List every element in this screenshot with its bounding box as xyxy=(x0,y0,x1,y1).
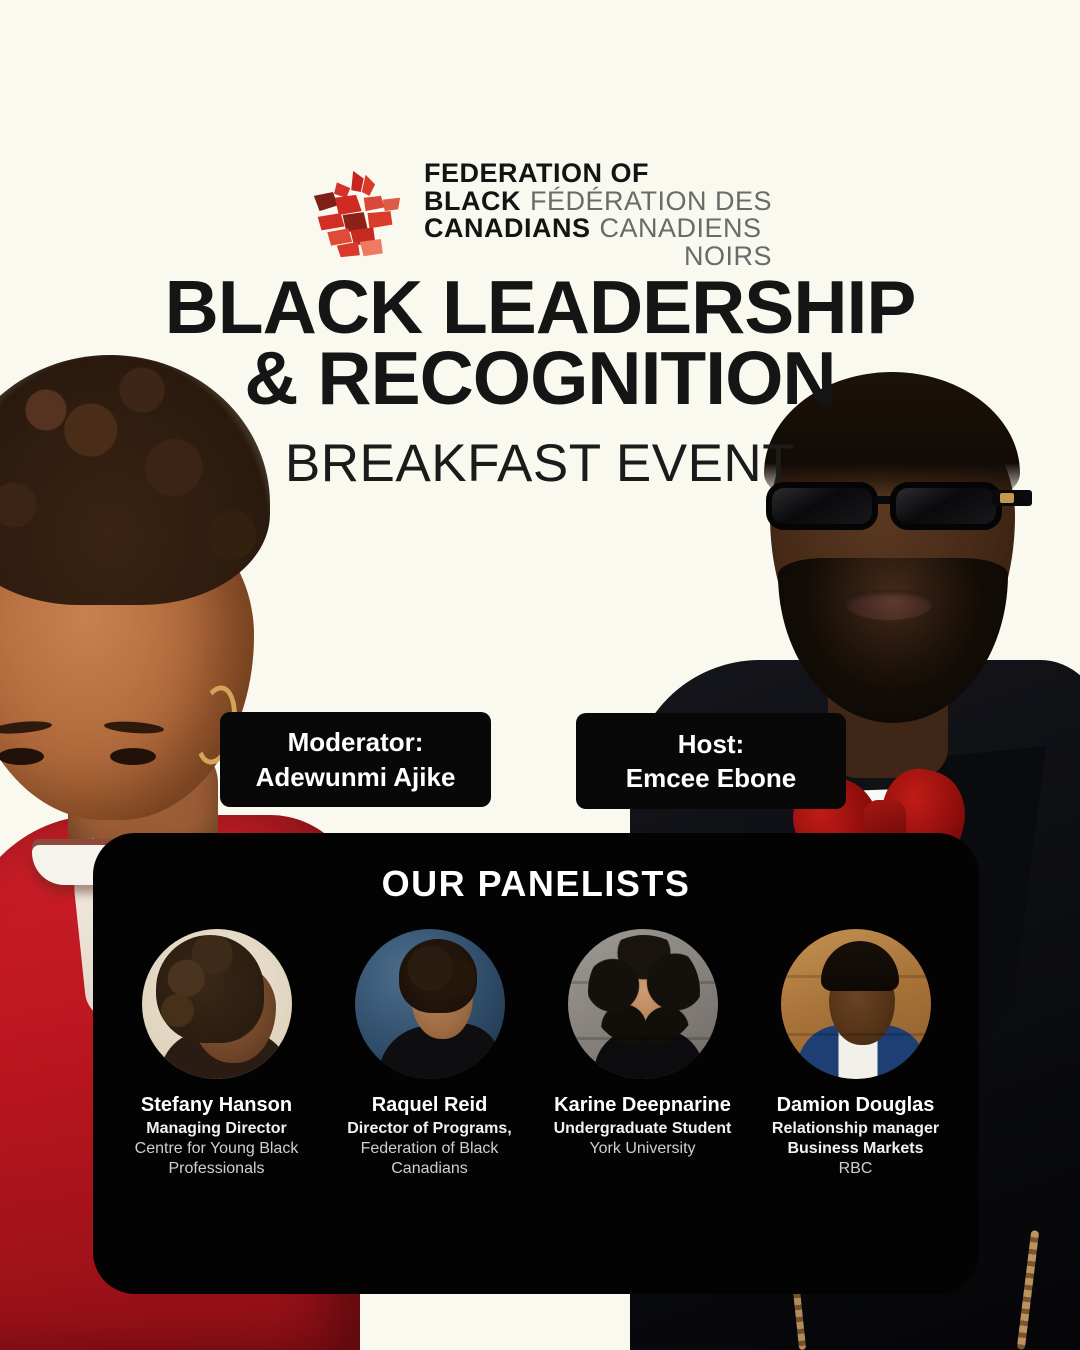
host-name: Emcee Ebone xyxy=(594,761,828,795)
host-badge: Host: Emcee Ebone xyxy=(576,713,846,809)
logo-line-1: FEDERATION OF xyxy=(424,160,772,188)
sunglasses-lens-left xyxy=(766,482,878,530)
moderator-role-label: Moderator: xyxy=(238,725,473,759)
host-sunglasses-icon xyxy=(764,480,1026,534)
logo-fr-2: FÉDÉRATION DES xyxy=(530,188,772,216)
logo-en-1: FEDERATION OF xyxy=(424,160,649,188)
logo-line-4: NOIRS xyxy=(424,243,772,271)
avatar-hair xyxy=(399,939,477,1013)
panelist-photo-karine-deepnarine xyxy=(568,929,718,1079)
panelist-item: Raquel Reid Director of Programs, Federa… xyxy=(332,929,527,1179)
logo-wordmark: FEDERATION OF BLACK FÉDÉRATION DES CANAD… xyxy=(424,160,772,270)
avatar-torso xyxy=(594,1029,704,1079)
avatar-hair xyxy=(156,935,264,1043)
moderator-name: Adewunmi Ajike xyxy=(238,760,473,794)
panelist-title: Director of Programs, xyxy=(332,1119,527,1139)
panelist-organization: RBC xyxy=(758,1159,953,1179)
panelist-item: Karine Deepnarine Undergraduate Student … xyxy=(545,929,740,1159)
moderator-eyebrow-right xyxy=(104,720,165,735)
moderator-badge: Moderator: Adewunmi Ajike xyxy=(220,712,491,807)
panelist-name: Raquel Reid xyxy=(332,1093,527,1117)
panelists-list: Stefany Hanson Managing Director Centre … xyxy=(93,929,979,1179)
maple-leaf-mosaic-icon xyxy=(308,169,404,261)
panelist-title: Relationship manager Business Markets xyxy=(758,1119,953,1159)
moderator-eye-right xyxy=(110,748,156,765)
panelist-photo-damion-douglas xyxy=(781,929,931,1079)
logo-en-2: BLACK xyxy=(424,188,521,216)
logo-line-2: BLACK FÉDÉRATION DES xyxy=(424,188,772,216)
panelists-card: OUR PANELISTS Stefany Hanson Managing Di… xyxy=(93,833,979,1294)
panelist-photo-stefany-hanson xyxy=(142,929,292,1079)
avatar-torso xyxy=(797,1025,927,1079)
panelist-photo-raquel-reid xyxy=(355,929,505,1079)
panelist-organization: Federation of Black Canadians xyxy=(332,1139,527,1179)
sunglasses-gold-temple-accent xyxy=(992,490,1032,506)
logo-en-3: CANADIANS xyxy=(424,215,591,243)
sunglasses-lens-right xyxy=(890,482,1002,530)
logo-line-3: CANADIANS CANADIENS xyxy=(424,215,772,243)
moderator-eye-left xyxy=(0,748,44,765)
logo-fr-3: CANADIENS xyxy=(599,215,761,243)
logo-fr-4: NOIRS xyxy=(684,243,772,271)
moderator-eyebrow-left xyxy=(0,719,52,735)
panelist-title: Managing Director xyxy=(119,1119,314,1139)
moderator-curly-updo-hair xyxy=(0,355,270,605)
organization-logo: FEDERATION OF BLACK FÉDÉRATION DES CANAD… xyxy=(0,160,1080,270)
panelist-name: Damion Douglas xyxy=(758,1093,953,1117)
panelist-organization: York University xyxy=(545,1139,740,1159)
panelist-organization: Centre for Young Black Professionals xyxy=(119,1139,314,1179)
panelist-item: Stefany Hanson Managing Director Centre … xyxy=(119,929,314,1179)
panelists-heading: OUR PANELISTS xyxy=(93,863,979,905)
avatar-hair xyxy=(821,941,899,991)
panelist-title: Undergraduate Student xyxy=(545,1119,740,1139)
panelist-name: Stefany Hanson xyxy=(119,1093,314,1117)
host-role-label: Host: xyxy=(594,727,828,761)
panelist-item: Damion Douglas Relationship manager Busi… xyxy=(758,929,953,1179)
panelist-name: Karine Deepnarine xyxy=(545,1093,740,1117)
avatar-hair xyxy=(588,935,700,1047)
event-poster: FEDERATION OF BLACK FÉDÉRATION DES CANAD… xyxy=(0,0,1080,1350)
